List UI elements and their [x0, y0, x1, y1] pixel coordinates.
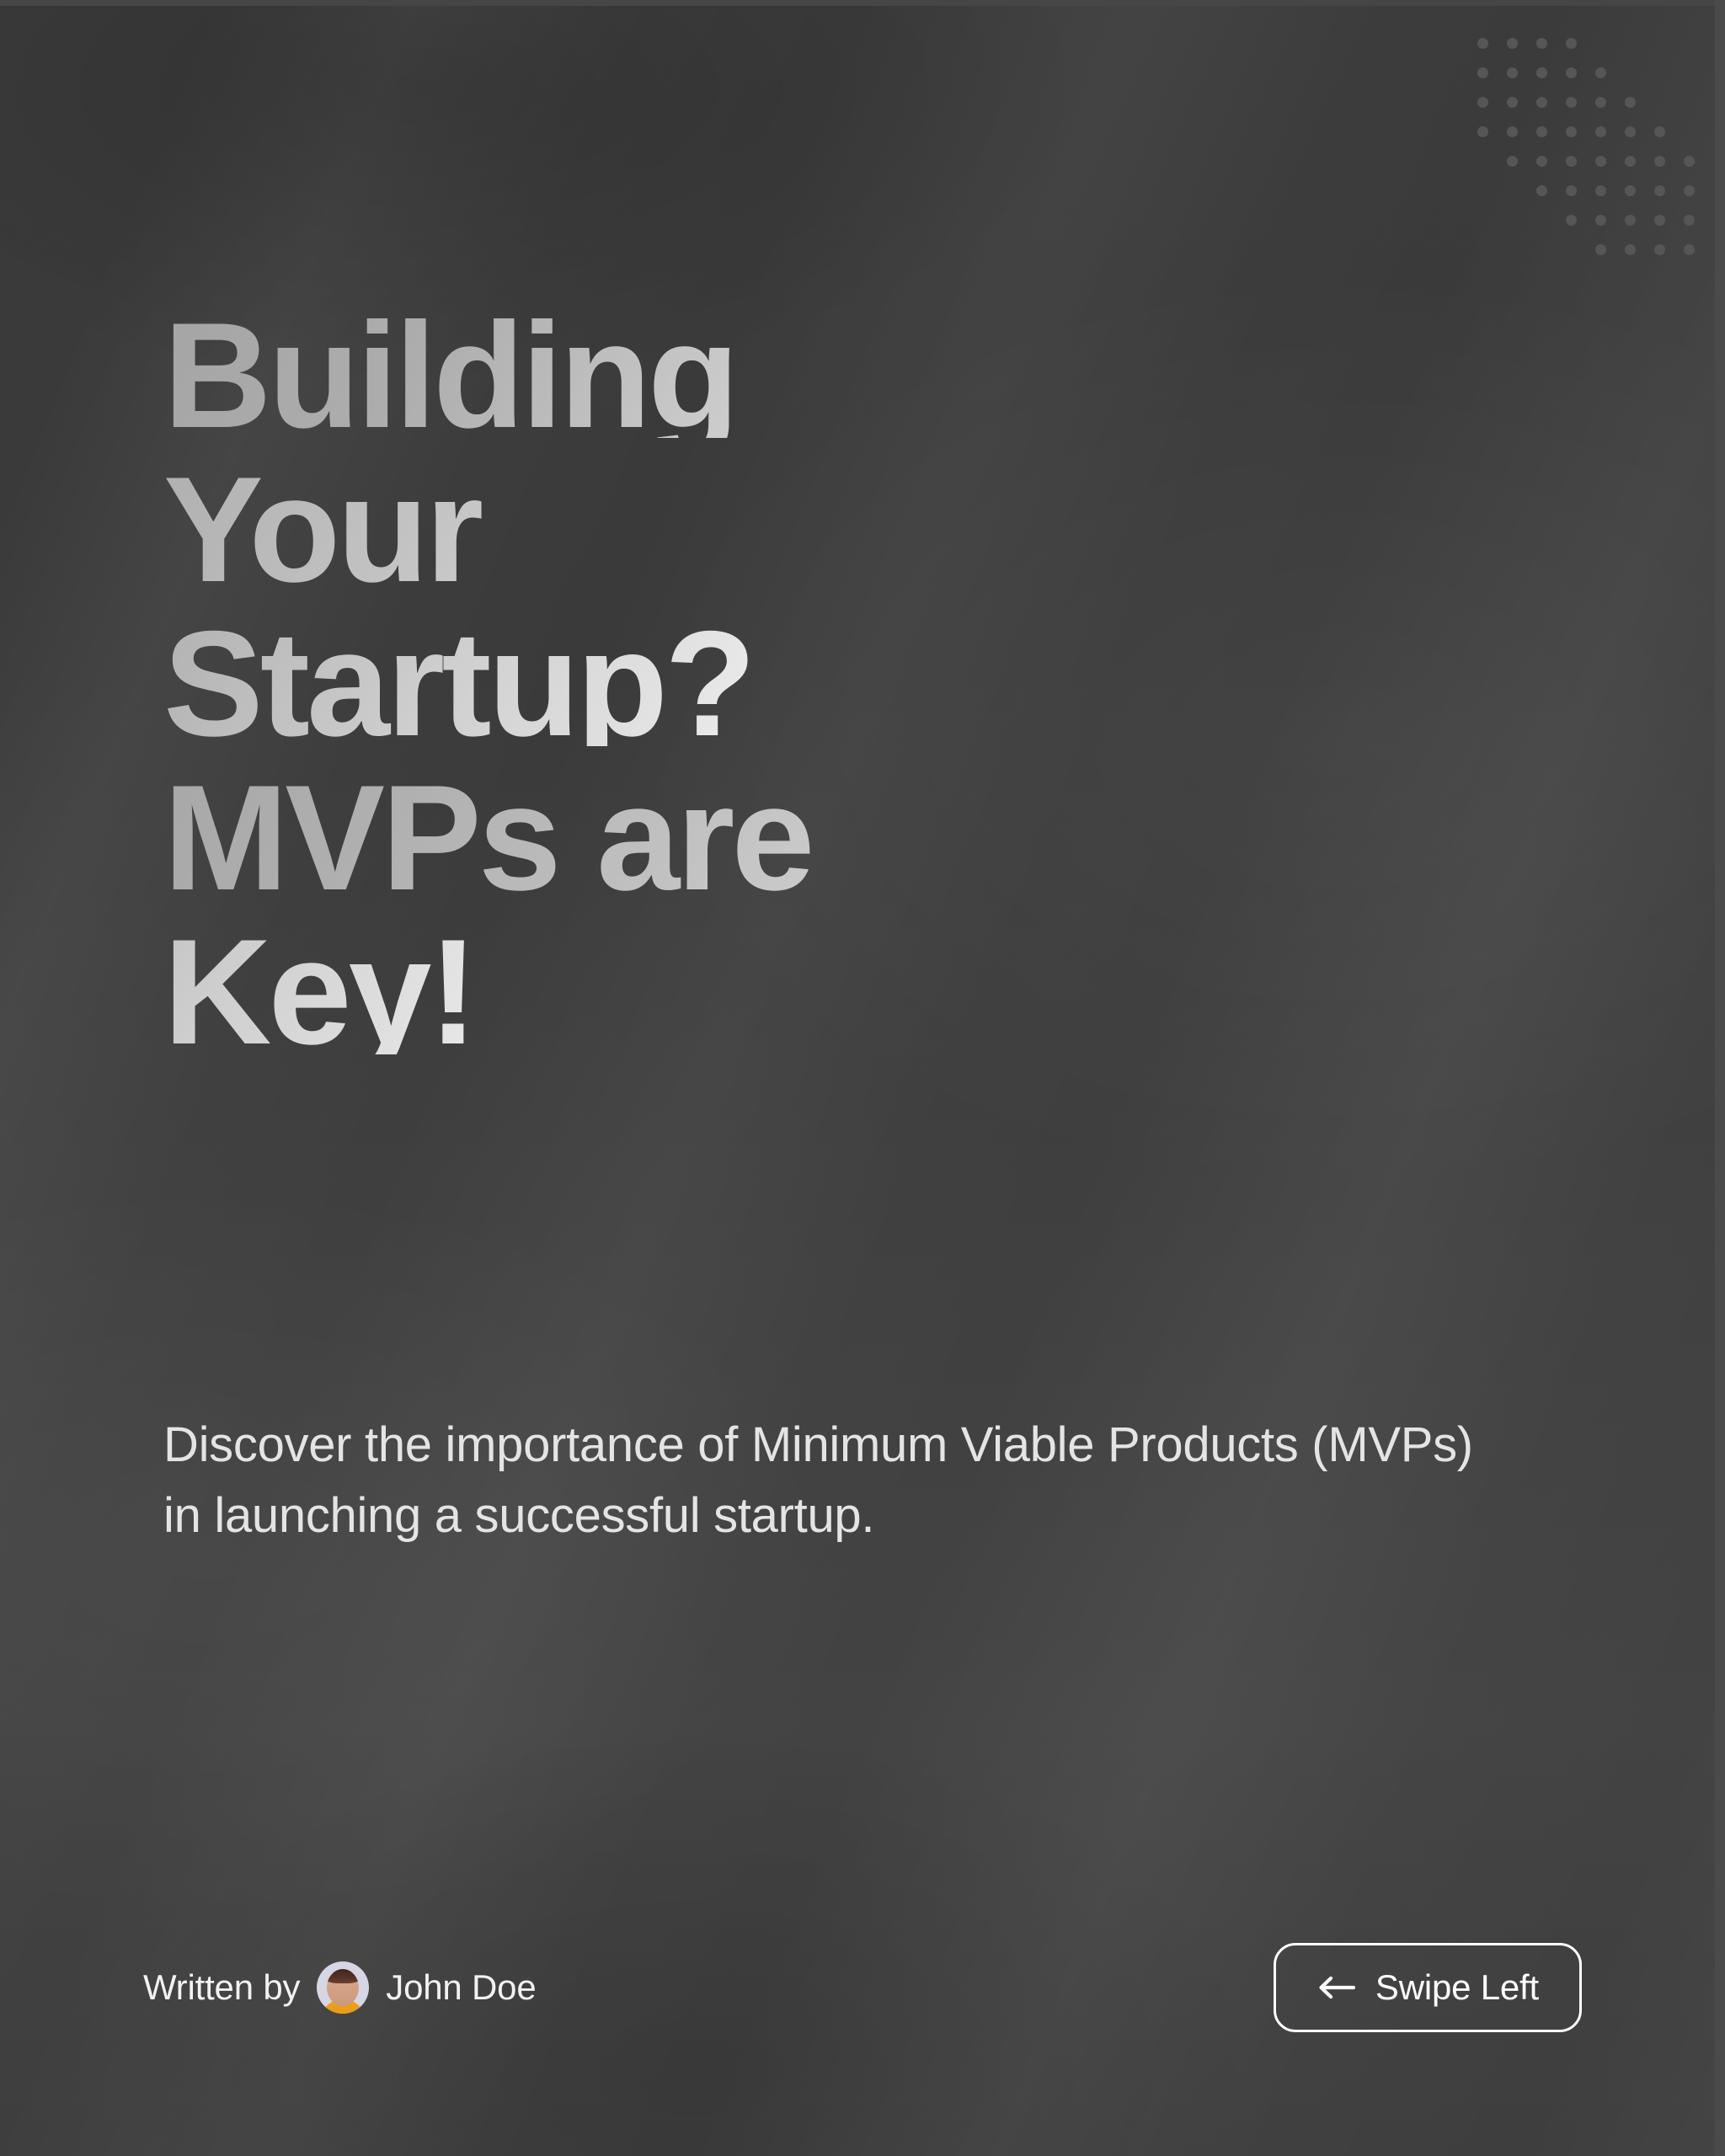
grid-dot — [1557, 58, 1586, 88]
grid-dot — [1498, 147, 1527, 176]
page-subtitle: Discover the importance of Minimum Viabl… — [163, 1410, 1477, 1551]
person-avatar-icon — [317, 1961, 369, 2014]
right-edge-strip — [1715, 0, 1725, 2156]
grid-dot — [1645, 147, 1674, 176]
grid-dot — [1557, 88, 1586, 117]
grid-dot — [1645, 176, 1674, 205]
grid-dot — [1557, 117, 1586, 147]
grid-dot-empty — [1498, 205, 1527, 235]
grid-dot — [1586, 205, 1616, 235]
grid-dot-empty — [1468, 235, 1498, 264]
grid-dot-empty — [1527, 205, 1557, 235]
grid-dot — [1616, 176, 1645, 205]
grid-dot-empty — [1557, 235, 1586, 264]
grid-dot-empty — [1645, 88, 1674, 117]
grid-dot-empty — [1616, 58, 1645, 88]
grid-dot-empty — [1674, 117, 1704, 147]
grid-dot — [1586, 235, 1616, 264]
grid-dot-empty — [1674, 58, 1704, 88]
grid-dot-empty — [1527, 235, 1557, 264]
avatar-hair — [327, 1969, 359, 1983]
grid-dot — [1468, 29, 1498, 58]
grid-dot — [1645, 117, 1674, 147]
dot-grid-decoration — [1468, 29, 1704, 264]
footer-bar: Written by John Doe Swipe Left — [0, 1941, 1725, 2034]
grid-dot — [1586, 58, 1616, 88]
author-prefix-label: Written by — [143, 1967, 300, 2008]
grid-dot — [1674, 147, 1704, 176]
author-credit: Written by John Doe — [143, 1961, 537, 2014]
grid-dot — [1674, 235, 1704, 264]
grid-dot — [1527, 117, 1557, 147]
grid-dot — [1557, 29, 1586, 58]
headline-line-2: Your — [163, 467, 1359, 592]
page-title: Building Your Startup? MVPs are Key! — [163, 313, 1359, 1084]
grid-dot — [1674, 176, 1704, 205]
author-name-label: John Doe — [386, 1967, 536, 2008]
grid-dot-empty — [1498, 176, 1527, 205]
grid-dot-empty — [1645, 29, 1674, 58]
grid-dot-empty — [1645, 58, 1674, 88]
grid-dot — [1468, 117, 1498, 147]
grid-dot — [1498, 117, 1527, 147]
grid-dot — [1468, 88, 1498, 117]
grid-dot — [1527, 88, 1557, 117]
grid-dot — [1498, 88, 1527, 117]
top-edge-strip — [0, 0, 1725, 6]
grid-dot — [1616, 88, 1645, 117]
swipe-left-button[interactable]: Swipe Left — [1274, 1943, 1582, 2032]
swipe-left-label: Swipe Left — [1375, 1967, 1539, 2008]
grid-dot — [1645, 235, 1674, 264]
grid-dot-empty — [1468, 147, 1498, 176]
arrow-left-icon — [1316, 1975, 1355, 2000]
grid-dot-empty — [1468, 205, 1498, 235]
grid-dot — [1557, 176, 1586, 205]
grid-dot — [1527, 58, 1557, 88]
grid-dot — [1616, 147, 1645, 176]
grid-dot — [1586, 117, 1616, 147]
grid-dot-empty — [1674, 88, 1704, 117]
avatar-head — [327, 1969, 359, 2006]
grid-dot — [1586, 176, 1616, 205]
headline-line-5: Key! — [163, 930, 1359, 1054]
grid-dot — [1674, 205, 1704, 235]
grid-dot — [1527, 147, 1557, 176]
grid-dot — [1586, 147, 1616, 176]
grid-dot-empty — [1616, 29, 1645, 58]
grid-dot — [1616, 117, 1645, 147]
headline-line-3: Startup? — [163, 622, 1359, 746]
grid-dot — [1645, 205, 1674, 235]
grid-dot — [1557, 205, 1586, 235]
grid-dot — [1498, 58, 1527, 88]
grid-dot — [1616, 235, 1645, 264]
grid-dot — [1527, 29, 1557, 58]
grid-dot — [1586, 88, 1616, 117]
grid-dot — [1468, 58, 1498, 88]
grid-dot-empty — [1468, 176, 1498, 205]
headline-line-4: MVPs are — [163, 776, 1359, 900]
grid-dot — [1498, 29, 1527, 58]
headline-line-1: Building — [163, 313, 1359, 438]
grid-dot — [1557, 147, 1586, 176]
grid-dot — [1616, 205, 1645, 235]
grid-dot-empty — [1586, 29, 1616, 58]
slide-canvas: Building Your Startup? MVPs are Key! Dis… — [0, 0, 1725, 2156]
grid-dot — [1527, 176, 1557, 205]
grid-dot-empty — [1674, 29, 1704, 58]
grid-dot-empty — [1498, 235, 1527, 264]
